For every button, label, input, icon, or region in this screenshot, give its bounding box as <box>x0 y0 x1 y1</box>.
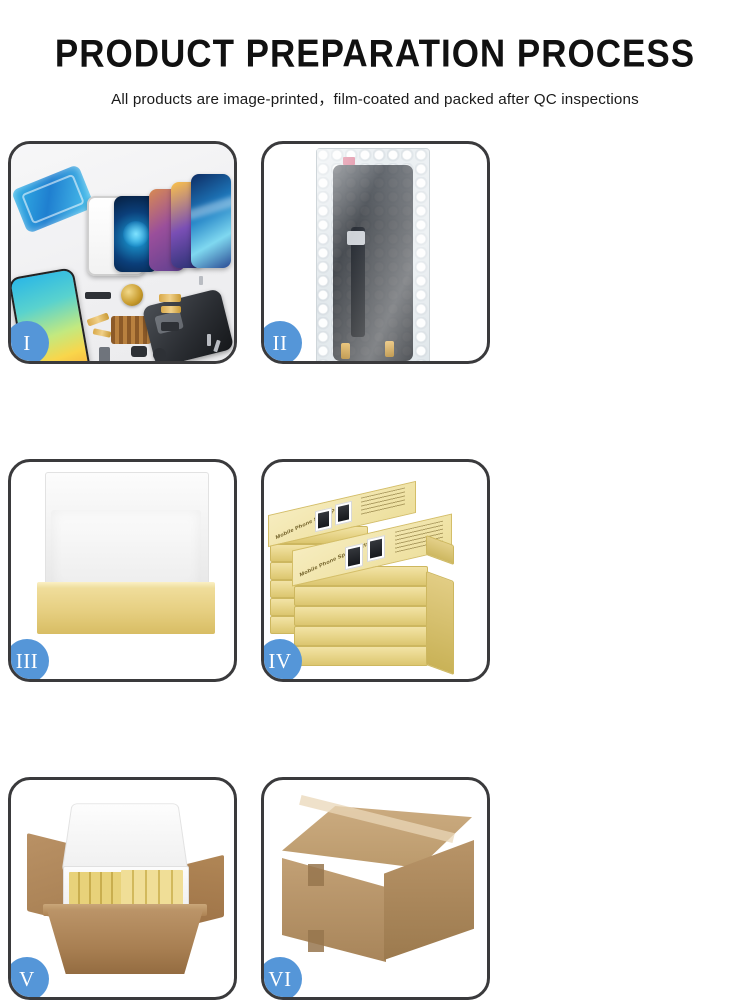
process-step-grid: I II III <box>8 141 742 1000</box>
process-step-2: II <box>261 141 490 364</box>
small-part-icon <box>161 322 179 331</box>
page-title: PRODUCT PREPARATION PROCESS <box>0 34 750 75</box>
speaker-part-icon <box>153 348 166 361</box>
carton-left-face <box>282 858 386 962</box>
step-badge-2: II <box>261 321 302 364</box>
process-step-6: VI <box>261 777 490 1000</box>
packing-tape-tab <box>308 864 324 886</box>
flex-cable-icon <box>159 294 181 302</box>
screw-icon <box>207 334 211 346</box>
stacked-box <box>294 606 428 626</box>
stacked-box <box>294 586 428 606</box>
foam-padding <box>51 510 201 590</box>
carton-with-foam-box-image <box>11 780 234 997</box>
process-step-3: III <box>8 459 237 682</box>
page-header: PRODUCT PREPARATION PROCESS All products… <box>0 0 750 109</box>
gold-coil-icon <box>121 284 143 306</box>
process-step-5: V <box>8 777 237 1000</box>
box-thumbnail <box>367 535 385 562</box>
stacked-box-side <box>426 571 454 675</box>
box-thumbnail <box>335 501 352 526</box>
lcd-screen <box>333 165 413 361</box>
gold-contact-icon <box>385 341 394 357</box>
sealed-shipping-carton-image <box>264 780 487 997</box>
small-part-icon <box>131 346 147 357</box>
stacked-box <box>294 626 428 646</box>
box-spec-lines <box>361 487 405 516</box>
step-badge-4: IV <box>261 639 302 682</box>
bubble-wrapped-screen-image <box>264 144 487 361</box>
step-badge-3: III <box>8 639 49 682</box>
carton-body <box>47 910 203 974</box>
yellow-tray-body <box>37 588 215 634</box>
foam-box-lid <box>61 803 188 872</box>
box-stack: Mobile Phone Spare Parts Mobile Phone Sp… <box>266 468 487 679</box>
box-thumbnail <box>345 543 363 570</box>
stacked-retail-boxes-image: Mobile Phone Spare Parts Mobile Phone Sp… <box>264 462 487 679</box>
packing-tape-tab <box>308 930 324 952</box>
product-parts-collage-image <box>11 144 234 361</box>
pink-label-tab <box>343 157 355 165</box>
bubble-wrap-bag <box>316 148 430 361</box>
step-badge-5: V <box>8 957 49 1000</box>
box-thumbnail <box>315 507 332 532</box>
process-step-4: Mobile Phone Spare Parts Mobile Phone Sp… <box>261 459 490 682</box>
step-badge-6: VI <box>261 957 302 1000</box>
screw-icon <box>199 276 203 285</box>
gold-contact-icon <box>341 343 350 359</box>
small-part-icon <box>99 347 110 361</box>
small-part-icon <box>85 292 111 299</box>
step-badge-1: I <box>8 321 49 364</box>
lcd-connector <box>347 231 365 245</box>
flex-cable-icon <box>161 306 181 313</box>
screen-wave-icon <box>191 174 231 268</box>
stacked-box <box>294 646 428 666</box>
process-step-1: I <box>8 141 237 364</box>
open-yellow-tray-box-image <box>11 462 234 679</box>
page-subtitle: All products are image-printed，film-coat… <box>0 87 750 109</box>
